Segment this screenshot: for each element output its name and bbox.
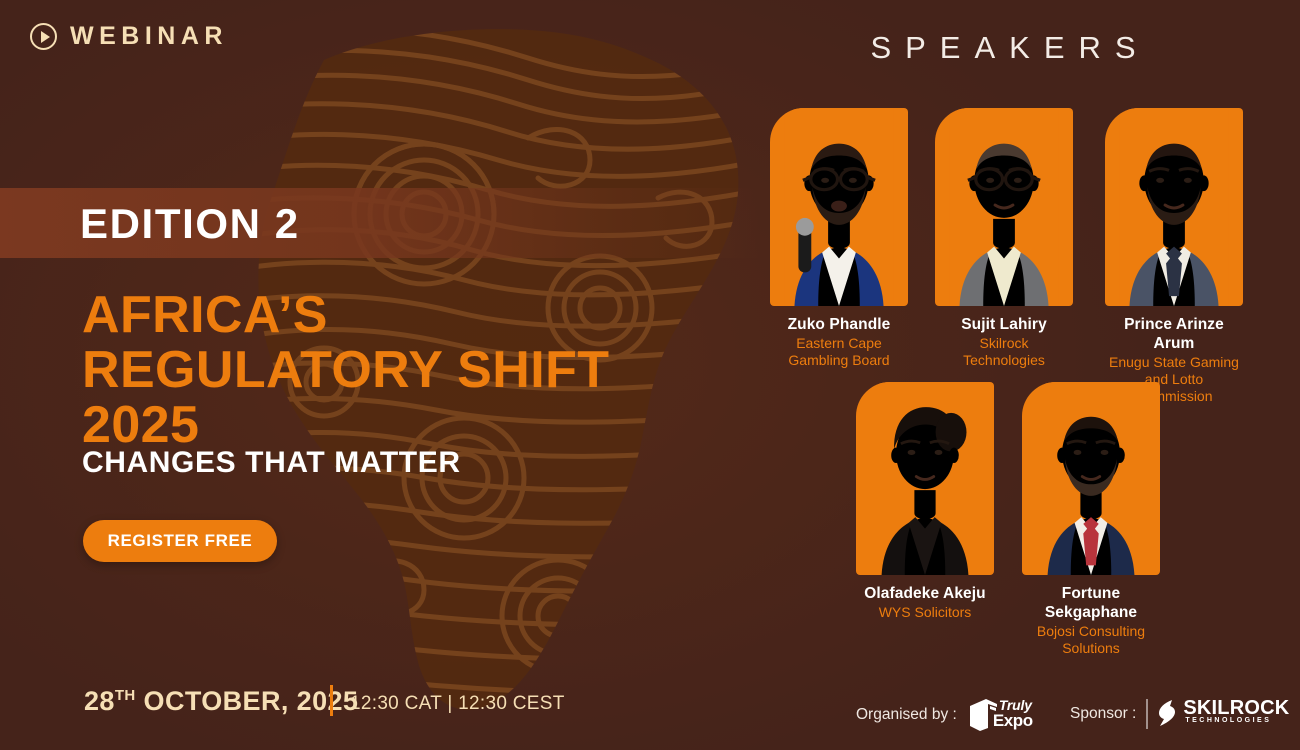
speaker-card: Olafadeke AkejuWYS Solicitors [856,382,994,621]
speaker-photo [1105,108,1243,306]
skilrock-logo: SKILROCK TECHNOLOGIES [1158,695,1274,733]
speaker-organisation: SkilrockTechnologies [935,335,1073,369]
speaker-name: Sujit Lahiry [935,315,1073,334]
speaker-name: Prince Arinze Arum [1105,315,1243,353]
edition-label: EDITION 2 [80,200,300,248]
speaker-photo [935,108,1073,306]
headline-line-1: AFRICA’S [82,288,722,343]
speaker-photo [1022,382,1160,575]
trulyexpo-logo: Truly Expo [966,695,1044,735]
sponsor-block: Sponsor : SKILROCK TECHNOLOGIES [1070,695,1274,733]
event-date: 28TH OCTOBER, 2025 [84,686,358,717]
speaker-name: Zuko Phandle [770,315,908,334]
date-rest: OCTOBER, 2025 [136,686,359,716]
speaker-card: Zuko PhandleEastern CapeGambling Board [770,108,908,369]
sponsor-label: Sponsor : [1070,705,1136,723]
webinar-tag: WEBINAR [30,22,228,51]
speaker-card: Fortune SekgaphaneBojosi ConsultingSolut… [1022,382,1160,657]
speaker-name: Fortune Sekgaphane [1022,584,1160,622]
register-free-button[interactable]: REGISTER FREE [83,520,277,562]
speaker-card: Sujit LahirySkilrockTechnologies [935,108,1073,369]
webinar-label: WEBINAR [70,22,228,51]
headline-block: AFRICA’S REGULATORY SHIFT 2025 [82,288,722,453]
speakers-heading: SPEAKERS [760,30,1260,66]
speaker-photo [856,382,994,575]
trulyexpo-word-bottom: Expo [993,711,1033,731]
speaker-organisation: Bojosi ConsultingSolutions [1022,623,1160,657]
date-day: 28 [84,686,115,716]
lightning-bolt-icon [1158,700,1180,726]
organiser-block: Organised by : Truly Expo [856,695,1044,735]
speaker-organisation: WYS Solicitors [856,604,994,621]
speaker-organisation: Eastern CapeGambling Board [770,335,908,369]
subtitle: CHANGES THAT MATTER [82,446,461,480]
skilrock-subtitle: TECHNOLOGIES [1185,717,1271,724]
headline-line-3: 2025 [82,398,722,453]
footer-divider [330,685,333,716]
play-circle-icon [30,23,57,50]
headline-line-2: REGULATORY SHIFT [82,343,722,398]
speaker-photo [770,108,908,306]
speaker-name: Olafadeke Akeju [856,584,994,603]
event-times: 12:30 CAT | 12:30 CEST [350,693,565,715]
speaker-card: Prince Arinze ArumEnugu State Gamingand … [1105,108,1243,405]
organised-by-label: Organised by : [856,706,957,724]
date-ordinal: TH [115,687,136,704]
poster-canvas: WEBINAR EDITION 2 AFRICA’S REGULATORY SH… [0,0,1300,750]
sponsor-divider [1146,699,1148,729]
